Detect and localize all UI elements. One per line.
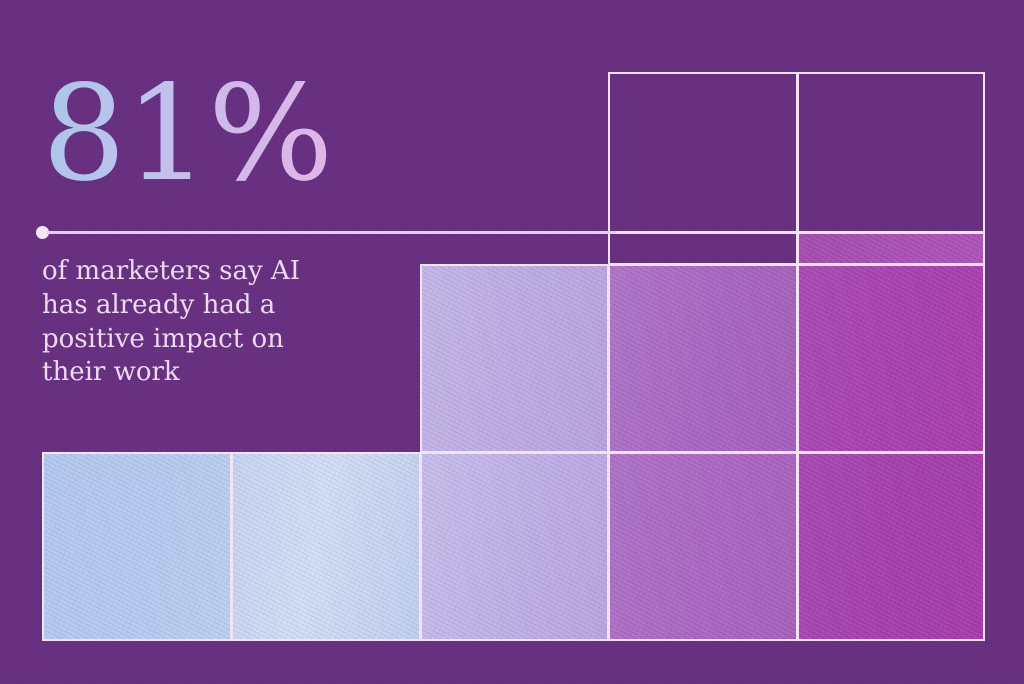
grid-cell-r4c2 [231, 452, 421, 641]
grid-cell-r4c5 [797, 452, 985, 641]
grid-cell-r3c3 [420, 264, 609, 453]
grid-cell-r2c4 [608, 232, 798, 265]
grid-cell-fill [610, 266, 796, 451]
grid-cell-fill [799, 74, 983, 231]
grid-cell-fill [44, 454, 230, 639]
grid-cell-r1c4 [608, 72, 798, 233]
grid-cell-r3c5 [797, 264, 985, 453]
stat-caption: of marketers say AI has already had a po… [42, 255, 342, 390]
grid-cell-fill [610, 454, 796, 639]
grid-cell-r1c5 [797, 72, 985, 233]
grid-cell-r3c4 [608, 264, 798, 453]
divider-line [47, 231, 616, 234]
grid-cell-r4c1 [42, 452, 232, 641]
grid-cell-r2c5 [797, 232, 985, 265]
grid-cell-fill [799, 266, 983, 451]
stat-block: 81% [42, 68, 372, 200]
infographic-canvas: 81% of marketers say AI has already had … [0, 0, 1024, 684]
grid-cell-fill [422, 266, 607, 451]
grid-cell-r4c4 [608, 452, 798, 641]
grid-cell-fill [610, 234, 796, 263]
grid-cell-fill [233, 454, 419, 639]
divider [36, 226, 616, 240]
grid-cell-fill [799, 234, 983, 263]
grid-cell-fill [610, 74, 796, 231]
grid-cell-fill [799, 454, 983, 639]
grid-cell-fill [422, 454, 607, 639]
grid-cell-r4c3 [420, 452, 609, 641]
stat-percentage: 81% [42, 68, 372, 200]
